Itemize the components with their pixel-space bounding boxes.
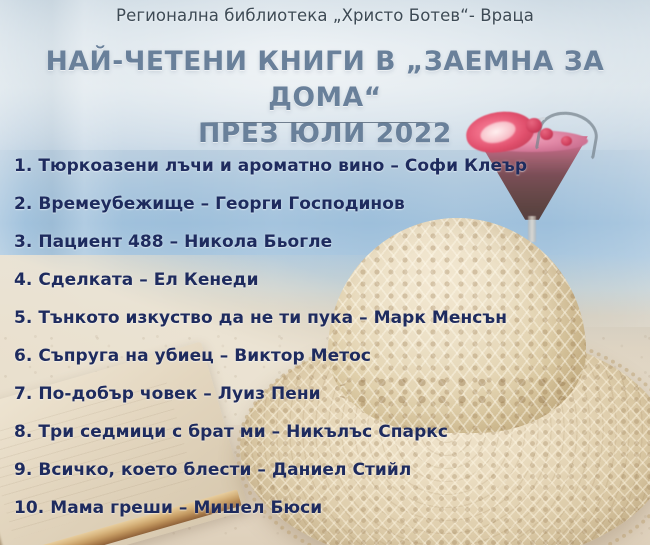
list-item: 10. Мама греши – Мишел Бюси	[14, 489, 634, 527]
page-title-line-1: НАЙ-ЧЕТЕНИ КНИГИ В „ЗАЕМНА ЗА ДОМА“	[46, 46, 605, 113]
list-item: 2. Времеубежище – Георги Господинов	[14, 185, 634, 223]
book-ranking-list: 1. Тюркоазени лъчи и ароматно вино – Соф…	[14, 147, 634, 527]
list-item: 6. Съпруга на убиец – Виктор Метос	[14, 337, 634, 375]
poster-canvas: Регионална библиотека „Христо Ботев“- Вр…	[0, 0, 650, 545]
list-item: 1. Тюркоазени лъчи и ароматно вино – Соф…	[14, 147, 634, 185]
list-item: 5. Тънкото изкуство да не ти пука – Марк…	[14, 299, 634, 337]
library-name: Регионална библиотека „Христо Ботев“- Вр…	[0, 6, 650, 25]
list-item: 8. Три седмици с брат ми – Никълъс Спарк…	[14, 413, 634, 451]
list-item: 3. Пациент 488 – Никола Бьогле	[14, 223, 634, 261]
page-title: НАЙ-ЧЕТЕНИ КНИГИ В „ЗАЕМНА ЗА ДОМА“ ПРЕЗ…	[0, 44, 650, 152]
title-divider	[202, 122, 446, 123]
list-item: 9. Всичко, което блести – Даниел Стийл	[14, 451, 634, 489]
list-item: 7. По-добър човек – Луиз Пени	[14, 375, 634, 413]
list-item: 4. Сделката – Ел Кенеди	[14, 261, 634, 299]
